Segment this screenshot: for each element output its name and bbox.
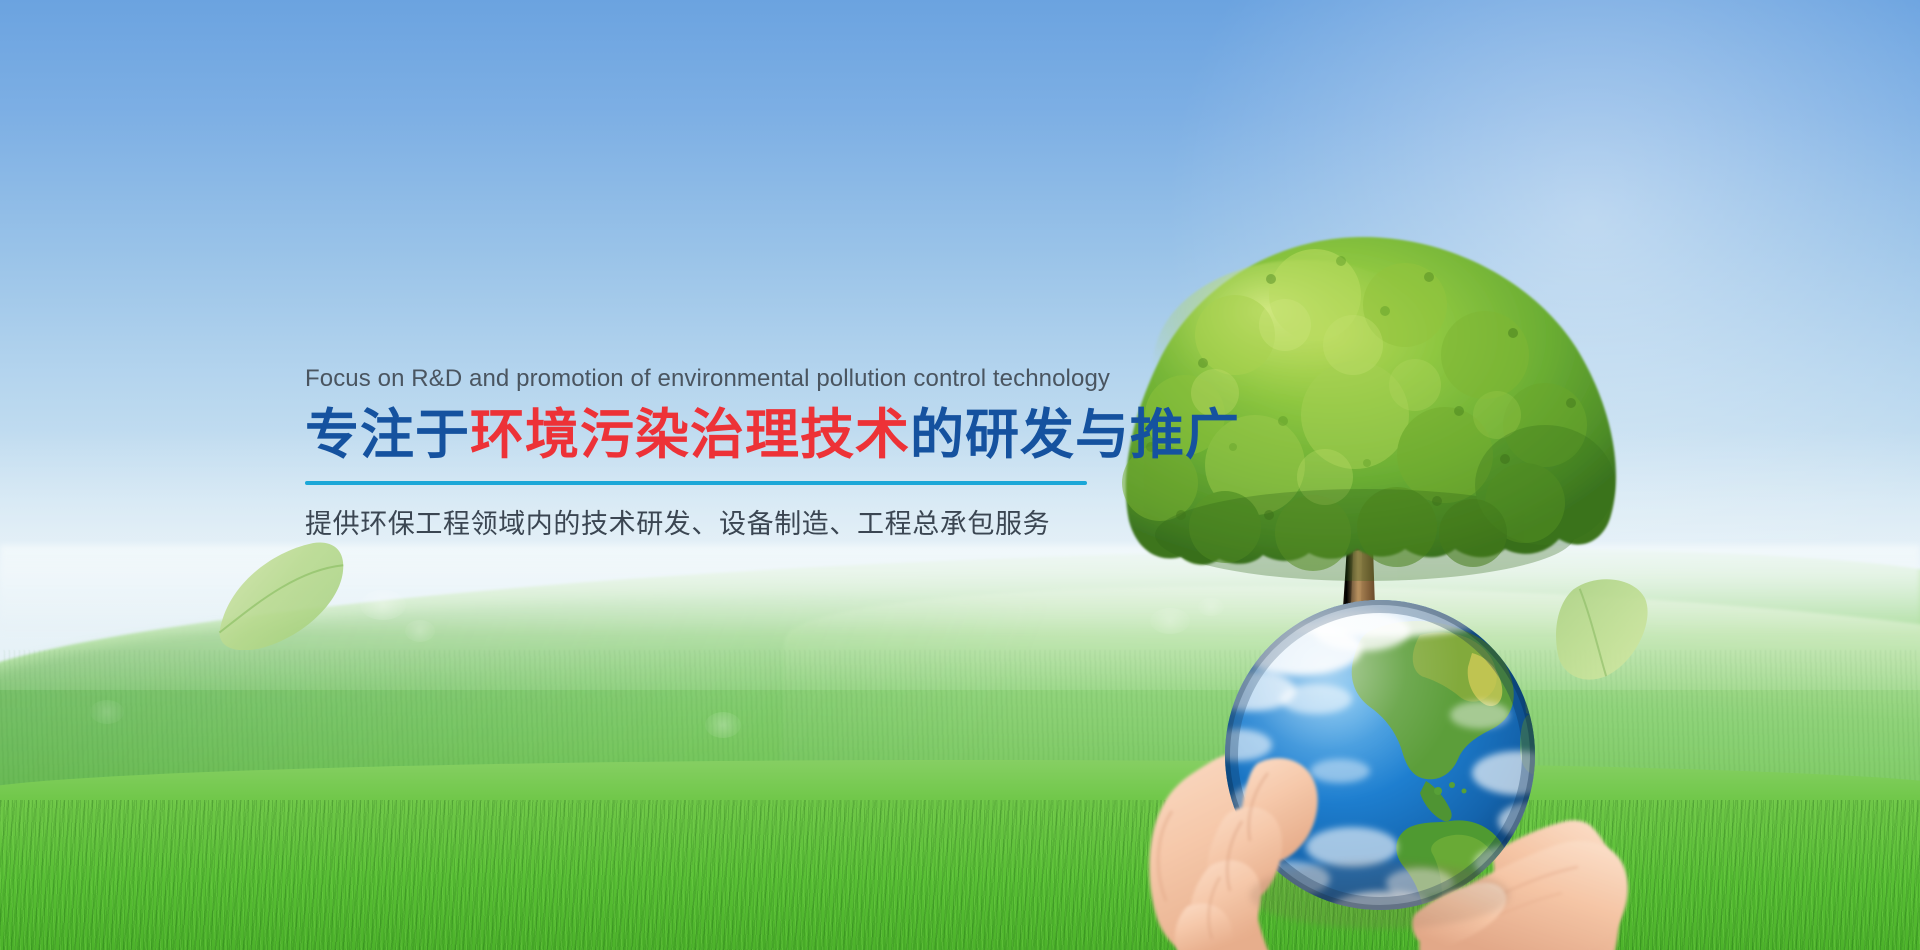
page-title: 专注于环境污染治理技术的研发与推广 [305,405,1105,465]
headline-tail: 的研发与推广 [910,403,1240,466]
divider-line [305,481,1087,485]
hero-banner: Focus on R&D and promotion of environmen… [0,0,1920,950]
banner-text-block: Focus on R&D and promotion of environmen… [305,365,1105,541]
bokeh-dot [705,712,741,738]
bokeh-dot [90,700,124,724]
english-tagline: Focus on R&D and promotion of environmen… [305,365,1105,394]
headline-emphasis: 环境污染治理技术 [470,403,910,466]
headline-lead: 专注于 [305,403,470,466]
floating-leaf-left [198,540,368,650]
floating-leaf-right [1546,568,1656,688]
banner-subtitle: 提供环保工程领域内的技术研发、设备制造、工程总承包服务 [305,502,1105,541]
bokeh-dot [405,620,435,642]
